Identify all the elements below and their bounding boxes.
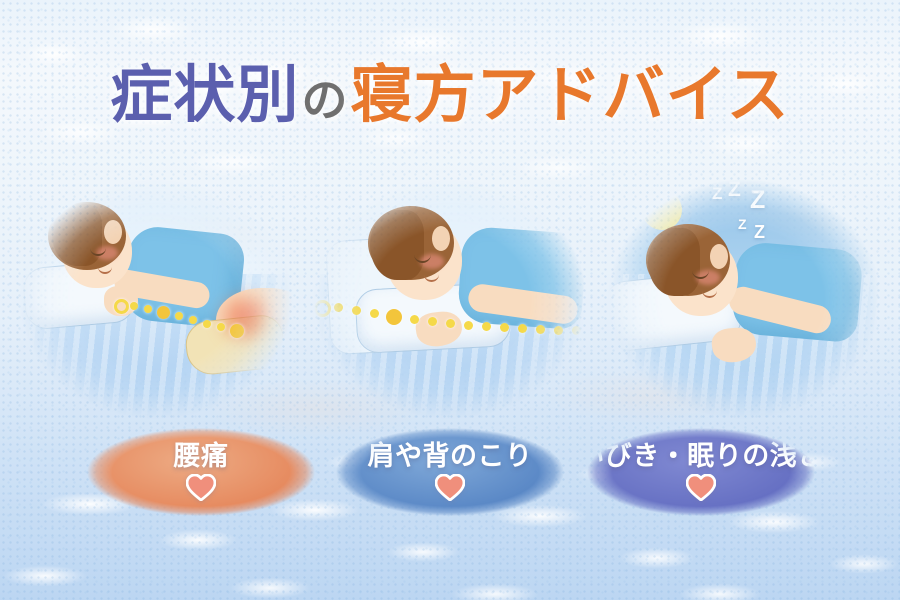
panel-1-line-joint — [157, 306, 170, 319]
poster-canvas: 症状別の寝方アドバイス — [0, 0, 900, 600]
panel-2-line-dot — [352, 306, 361, 315]
panel-1-line-dot — [189, 316, 197, 324]
sleep-z-icon: Z — [750, 186, 765, 215]
panel-2-line-start-marker — [314, 300, 331, 317]
symptom-label-text: 腰痛 — [174, 443, 229, 470]
panel-1-pain-glow — [214, 294, 278, 342]
title-segment-blue: 症状別 — [110, 61, 299, 130]
sleep-z-icon: Z — [728, 178, 741, 202]
panel-2-ear — [432, 226, 450, 251]
sleep-z-icon: Z — [738, 216, 747, 232]
heart-icon — [686, 474, 716, 501]
title-segment-gray: の — [301, 74, 348, 126]
panel-2-line-dot — [410, 315, 419, 324]
panel-2-line-dot — [370, 309, 379, 318]
symptom-label-text: 肩や背のこり — [368, 443, 533, 470]
panel-2-hair-front — [370, 210, 424, 280]
panel-2-line-dot — [482, 322, 491, 331]
panel-1-line-dot — [203, 320, 211, 328]
panel-1-line-dot — [130, 302, 138, 310]
panel-2-line-dot — [500, 323, 509, 332]
panel-1-line-start-marker — [114, 299, 129, 314]
page-title: 症状別の寝方アドバイス — [0, 44, 900, 134]
sleep-z-icon: Z — [712, 184, 722, 204]
panel-1-ear — [104, 220, 122, 244]
panel-2-line-dot — [572, 326, 581, 335]
heart-icon — [186, 474, 216, 501]
symptom-label-text: いびき・眠りの浅さ — [577, 443, 825, 470]
panel-2-line-joint — [386, 309, 402, 325]
symptom-label-snoring-light-sleep[interactable]: いびき・眠りの浅さ — [587, 428, 815, 516]
panel-1-line-dot — [217, 323, 225, 331]
panel-2-line-dot — [428, 317, 437, 326]
panel-2-line-dot — [518, 324, 527, 333]
panel-1-hair-front — [52, 204, 102, 266]
illustration-panels: Z Z Z Z Z — [0, 168, 900, 420]
panel-2-line-dot — [446, 319, 455, 328]
crescent-moon-icon — [642, 190, 682, 230]
panel-2-line-dot — [554, 326, 563, 335]
illustration-panel-back-pain — [18, 168, 294, 420]
symptom-labels: 腰痛 肩や背のこり いびき・眠りの浅さ — [0, 428, 900, 524]
title-segment-orange: 寝方アドバイス — [350, 61, 789, 130]
panel-2-line-dot — [464, 321, 473, 330]
symptom-label-back-pain[interactable]: 腰痛 — [87, 428, 315, 516]
panel-3-ear — [710, 244, 728, 269]
panel-1-line-dot — [175, 312, 183, 320]
panel-2-line-dot — [536, 325, 545, 334]
illustration-panel-snoring-light-sleep: Z Z Z Z Z — [606, 168, 882, 420]
panel-1-line-dot — [144, 305, 152, 313]
panel-3-hair-front — [648, 228, 700, 296]
panel-2-line-dot — [334, 303, 343, 312]
heart-icon — [435, 474, 465, 501]
symptom-label-shoulder-stiffness[interactable]: 肩や背のこり — [336, 428, 564, 516]
sleep-z-icon: Z — [754, 222, 765, 243]
illustration-panel-shoulder-stiffness — [312, 168, 588, 420]
panel-1-line-end-joint — [230, 324, 244, 338]
